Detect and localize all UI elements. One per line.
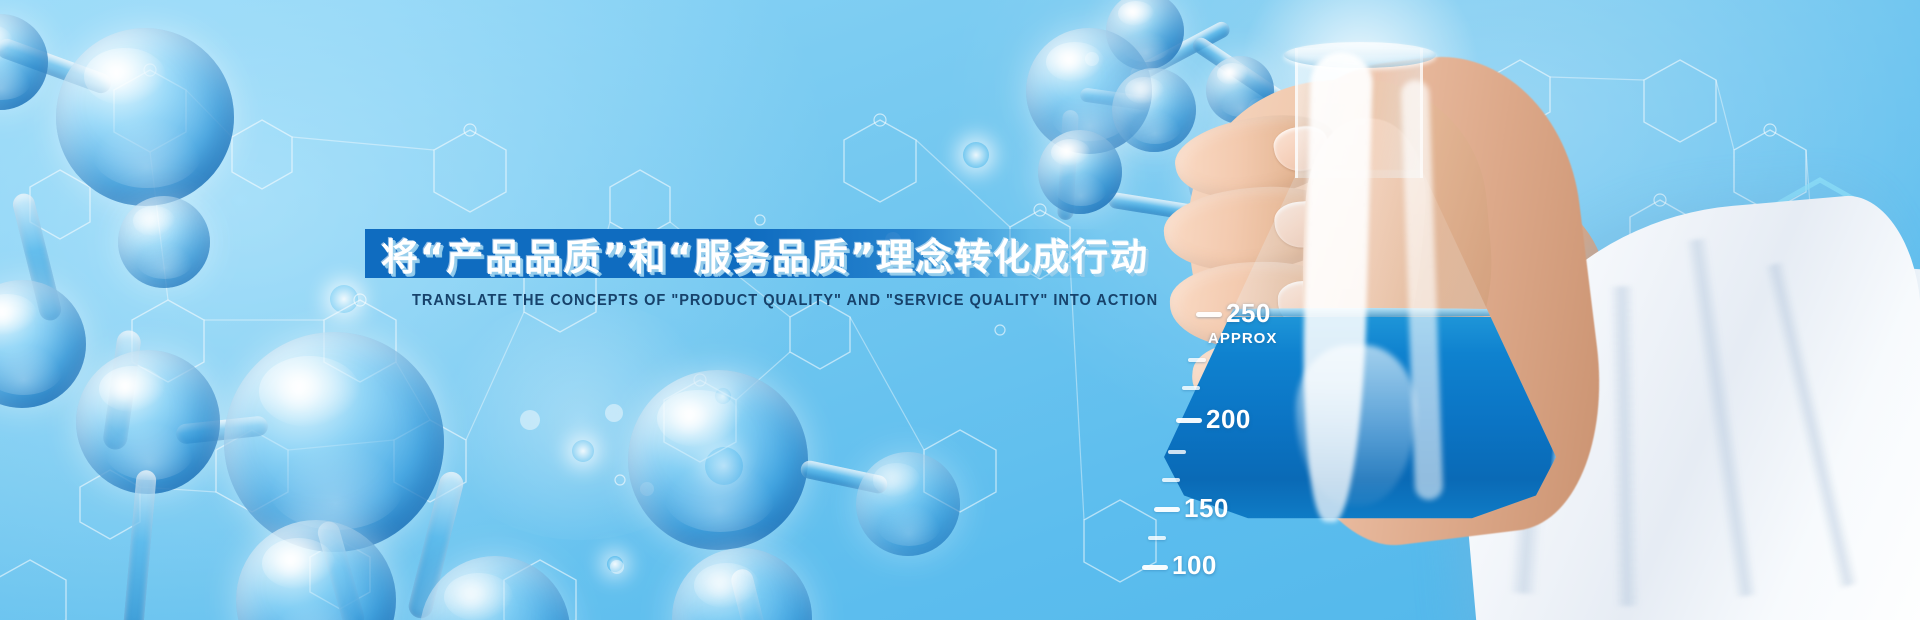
page-subtitle: TRANSLATE THE CONCEPTS OF "PRODUCT QUALI… (412, 292, 1126, 310)
flask-graduations: 250 APPROX 200 150 100 (1150, 20, 1560, 580)
graduation-label-250: 250 (1226, 298, 1271, 329)
graduation-label-200: 200 (1206, 404, 1251, 435)
erlenmeyer-flask: 250 APPROX 200 150 100 (1150, 20, 1560, 580)
page-title: 将“产品品质”和“服务品质”理念转化成行动 (381, 228, 1141, 280)
graduation-label-approx: APPROX (1208, 330, 1277, 347)
graduation-label-150: 150 (1184, 493, 1229, 524)
graduation-label-100: 100 (1172, 550, 1217, 581)
hero-banner: 250 APPROX 200 150 100 将“产品品质”和“服务品质”理念转… (0, 0, 1920, 620)
hand-holding-flask-photo: 250 APPROX 200 150 100 (1120, 0, 1920, 620)
